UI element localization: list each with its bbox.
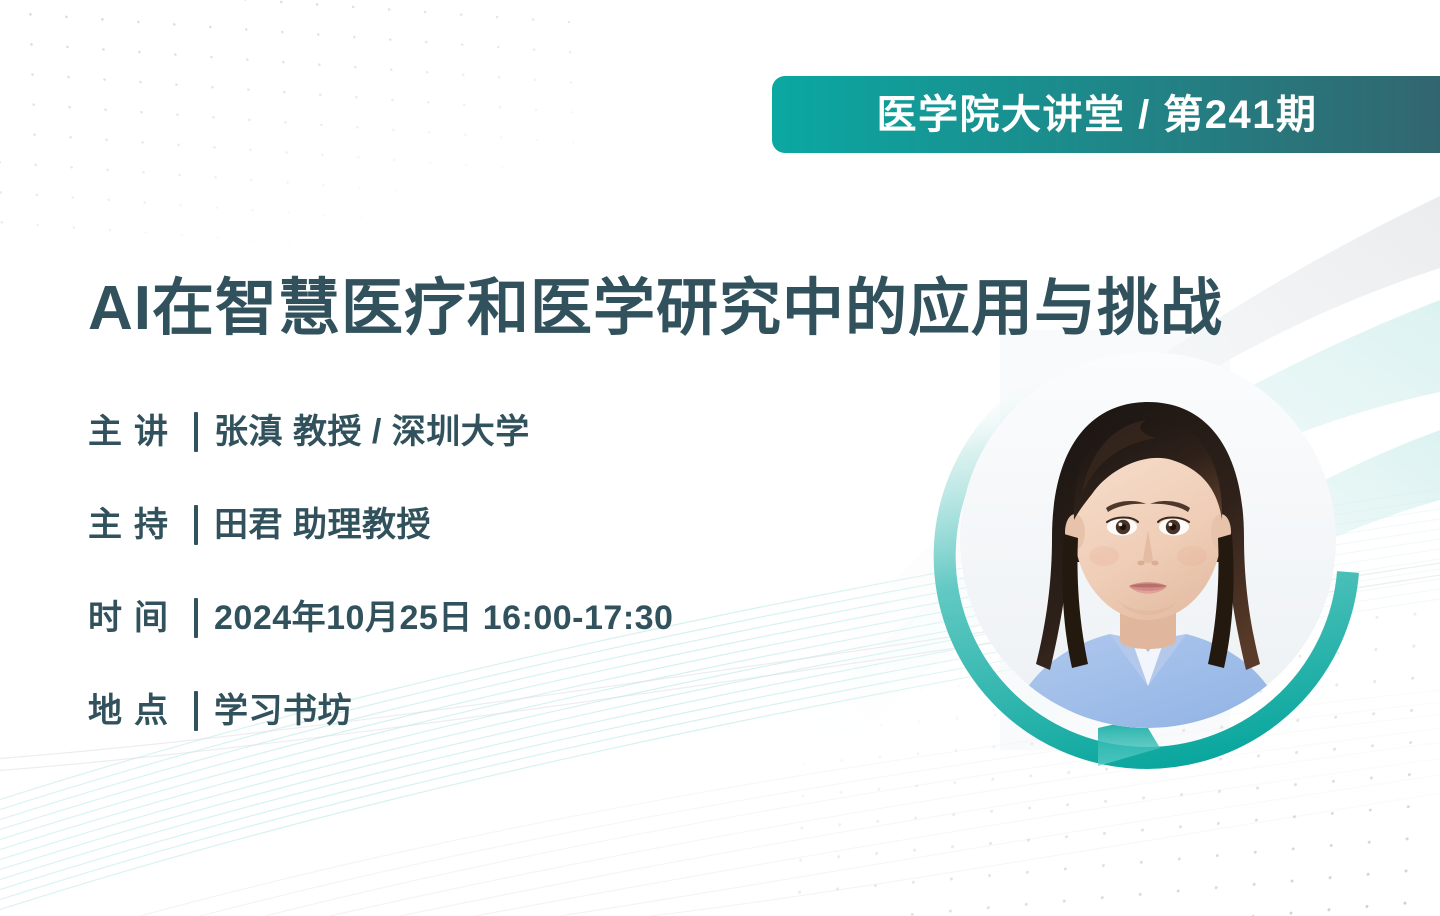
speaker-portrait-block [944, 352, 1352, 760]
lecture-info-list: 主讲 张滇 教授 / 深圳大学 主持 田君 助理教授 时间 2024年10月25… [88, 385, 918, 757]
info-value-host: 田君 助理教授 [214, 508, 431, 542]
info-separator [194, 691, 198, 731]
info-label-speaker: 主讲 [88, 415, 194, 449]
series-banner-label: 医学院大讲堂 / 第241期 [876, 95, 1317, 135]
info-row-location: 地点 学习书坊 [88, 664, 918, 757]
info-separator [194, 598, 198, 638]
info-value-speaker: 张滇 教授 / 深圳大学 [214, 415, 530, 449]
lecture-poster: 医学院大讲堂 / 第241期 AI在智慧医疗和医学研究中的应用与挑战 主讲 张滇… [0, 0, 1440, 916]
info-row-time: 时间 2024年10月25日 16:00-17:30 [88, 571, 918, 664]
info-row-host: 主持 田君 助理教授 [88, 478, 918, 571]
info-value-time: 2024年10月25日 16:00-17:30 [214, 601, 673, 635]
series-banner: 医学院大讲堂 / 第241期 [772, 76, 1440, 153]
portrait-illustration-icon [960, 352, 1336, 728]
info-separator [194, 505, 198, 545]
speaker-portrait-photo [960, 352, 1336, 728]
info-value-location: 学习书坊 [214, 694, 352, 728]
info-separator [194, 412, 198, 452]
info-row-speaker: 主讲 张滇 教授 / 深圳大学 [88, 385, 918, 478]
dot-grid-top-left-icon [0, 0, 585, 282]
info-label-location: 地点 [88, 694, 194, 728]
info-label-time: 时间 [88, 601, 194, 635]
page-title: AI在智慧医疗和医学研究中的应用与挑战 [88, 274, 1223, 343]
info-label-host: 主持 [88, 508, 194, 542]
